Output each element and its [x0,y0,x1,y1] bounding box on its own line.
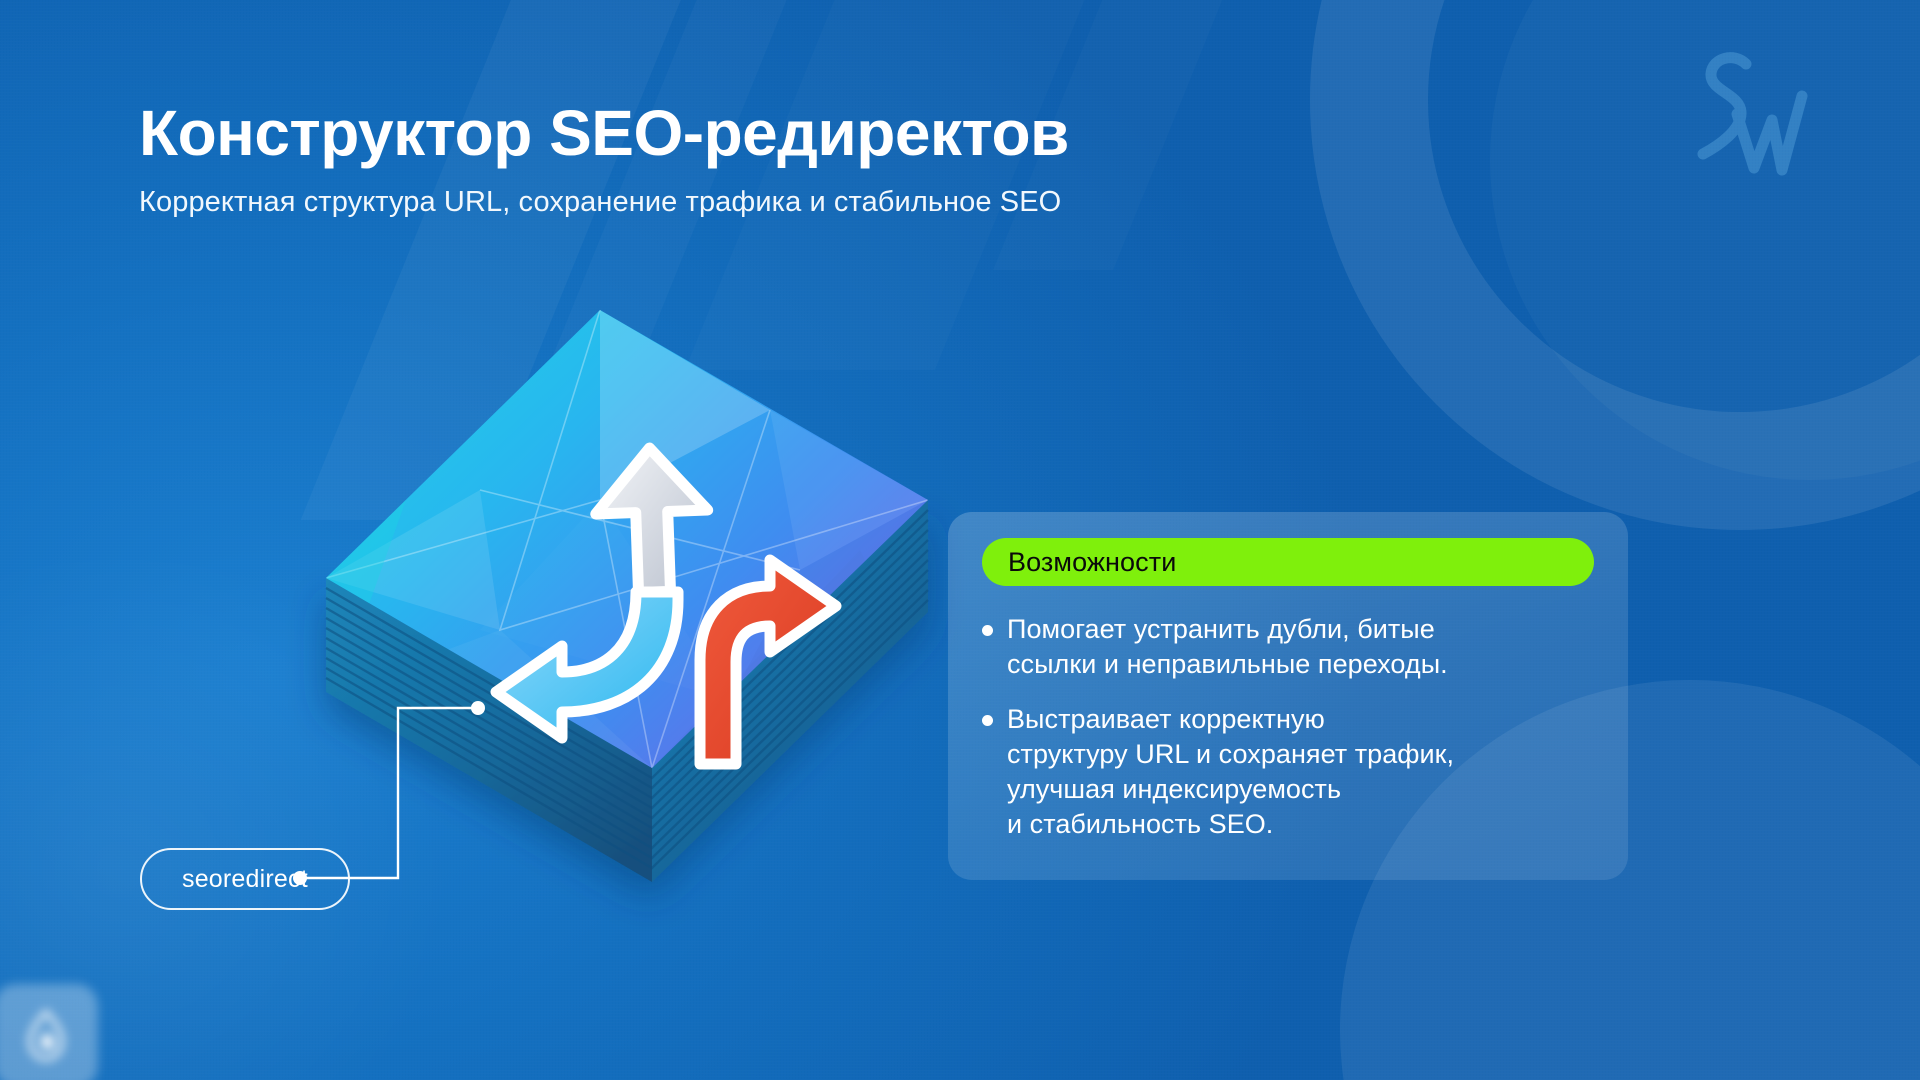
slide-canvas: Конструктор SEO-редиректов Корректная ст… [0,0,1920,1080]
header: Конструктор SEO-редиректов Корректная ст… [139,98,1339,219]
product-label-text: seoredirect [182,865,308,894]
features-badge: Возможности [982,538,1594,586]
page-title: Конструктор SEO-редиректов [139,98,1339,170]
page-subtitle: Корректная структура URL, сохранение тра… [139,186,1339,219]
list-item-text: Помогает устранить дубли, битые ссылки и… [1007,612,1448,682]
features-list: Помогает устранить дубли, битые ссылки и… [982,612,1594,843]
features-panel: Возможности Помогает устранить дубли, би… [948,512,1628,880]
bullet-dot-icon [982,625,993,636]
list-item: Выстраивает корректную структуру URL и с… [982,702,1594,842]
bg-ring-top-right [1310,0,1920,530]
sw-watermark [1674,38,1824,178]
list-item-text: Выстраивает корректную структуру URL и с… [1007,702,1454,842]
product-label-pill[interactable]: seoredirect [140,848,350,910]
bullet-dot-icon [982,715,993,726]
list-item: Помогает устранить дубли, битые ссылки и… [982,612,1594,682]
flame-drop-icon [0,984,98,1080]
